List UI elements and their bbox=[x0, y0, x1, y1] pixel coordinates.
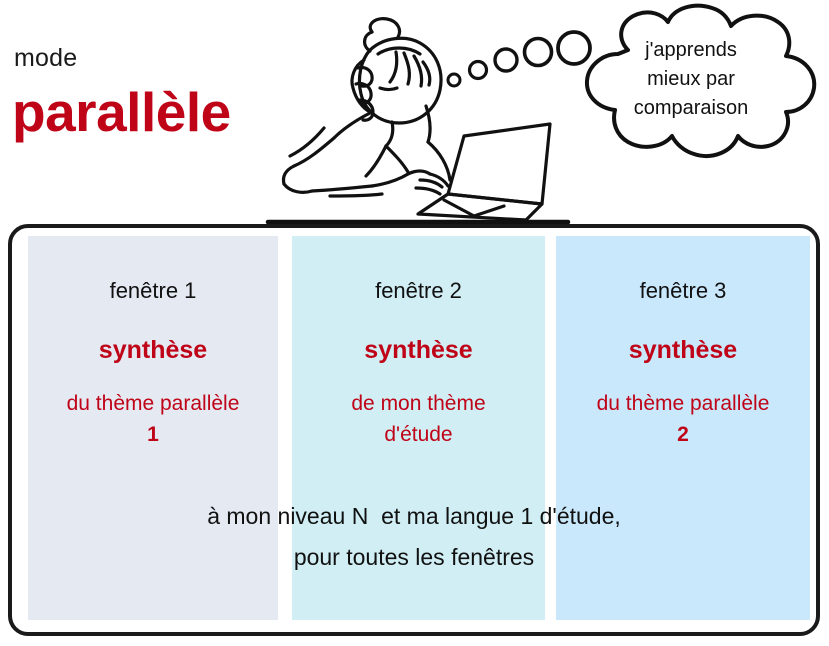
window-2-heading: synthèse bbox=[292, 336, 545, 365]
window-2-detail: de mon thème d'étude bbox=[286, 388, 551, 450]
bubble-line-1: j'apprends bbox=[645, 39, 737, 61]
window-1-detail-emphasis: 1 bbox=[147, 423, 159, 446]
window-panel-2[interactable]: fenêtre 2 synthèse de mon thème d'étude bbox=[292, 236, 545, 620]
window-3-heading: synthèse bbox=[556, 336, 810, 365]
window-1-detail-text: du thème parallèle bbox=[67, 392, 240, 415]
diagram-canvas: mode parallèle bbox=[0, 0, 829, 646]
window-1-label: fenêtre 1 bbox=[28, 278, 278, 304]
window-panel-3[interactable]: fenêtre 3 synthèse du thème parallèle 2 bbox=[556, 236, 810, 620]
window-2-label: fenêtre 2 bbox=[292, 278, 545, 304]
window-1-detail: du thème parallèle 1 bbox=[22, 388, 284, 450]
mode-label: mode bbox=[14, 44, 77, 73]
window-2-detail-emphasis: d'étude bbox=[384, 423, 452, 446]
mode-title: parallèle bbox=[12, 85, 231, 140]
bubble-line-3: comparaison bbox=[634, 97, 749, 119]
window-panel-1[interactable]: fenêtre 1 synthèse du thème parallèle 1 bbox=[28, 236, 278, 620]
bubble-line-2: mieux par bbox=[647, 68, 735, 90]
window-3-detail: du thème parallèle 2 bbox=[550, 388, 816, 450]
window-3-label: fenêtre 3 bbox=[556, 278, 810, 304]
window-3-detail-emphasis: 2 bbox=[677, 423, 689, 446]
window-1-heading: synthèse bbox=[28, 336, 278, 365]
window-2-detail-text: de mon thème bbox=[351, 392, 485, 415]
thought-bubble-text: j'apprends mieux par comparaison bbox=[596, 36, 786, 123]
window-3-detail-text: du thème parallèle bbox=[597, 392, 770, 415]
